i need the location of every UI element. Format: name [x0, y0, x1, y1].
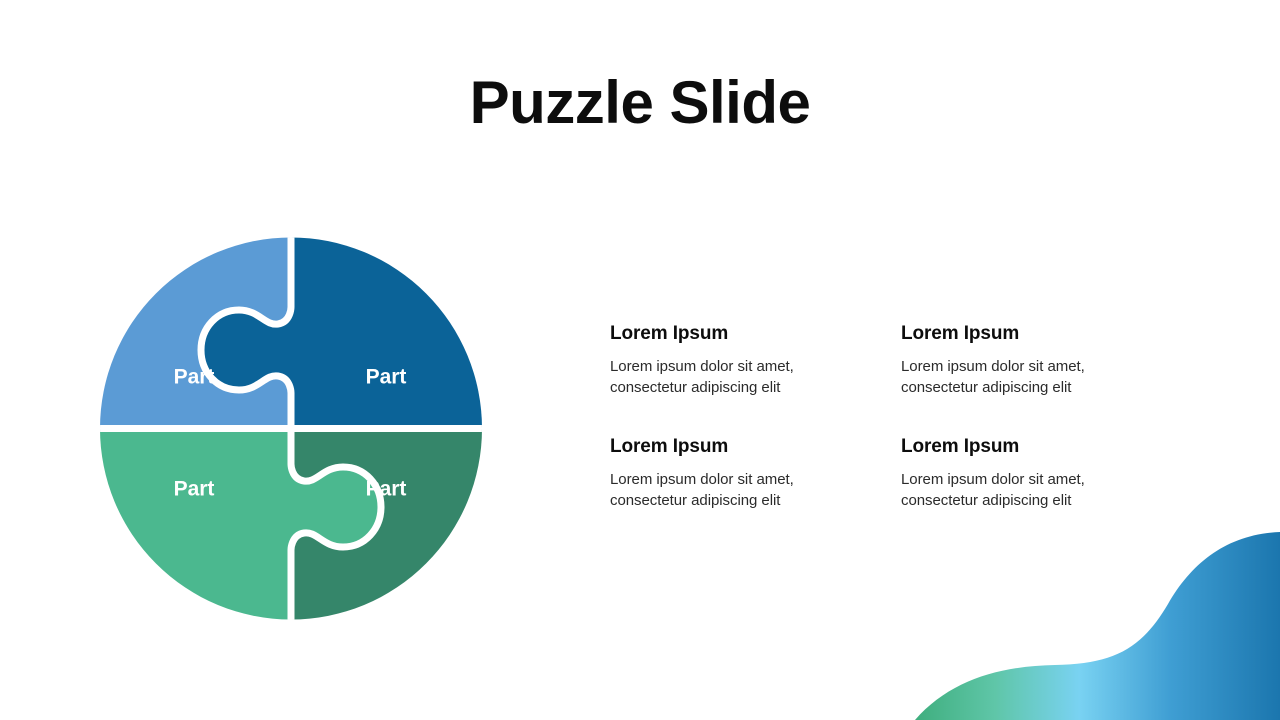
content-item-2-body: Lorem ipsum dolor sit amet, consectetur … [901, 356, 1116, 399]
corner-wave-decoration [880, 500, 1280, 720]
content-row-1: Lorem Ipsum Lorem ipsum dolor sit amet, … [610, 322, 1210, 398]
content-row-2: Lorem Ipsum Lorem ipsum dolor sit amet, … [610, 435, 1210, 511]
content-item-4-heading: Lorem Ipsum [901, 435, 1172, 460]
content-item-1-heading: Lorem Ipsum [610, 322, 881, 347]
puzzle-label-bottom-right: Part [366, 478, 407, 501]
puzzle-label-top-right: Part [366, 366, 407, 389]
content-item-2-heading: Lorem Ipsum [901, 322, 1172, 347]
content-item-4-body: Lorem ipsum dolor sit amet, consectetur … [901, 469, 1116, 512]
content-item-4: Lorem Ipsum Lorem ipsum dolor sit amet, … [901, 435, 1192, 511]
content-item-3: Lorem Ipsum Lorem ipsum dolor sit amet, … [610, 435, 901, 511]
content-item-1-body: Lorem ipsum dolor sit amet, consectetur … [610, 356, 825, 399]
puzzle-diagram: Part Part Part Part [96, 232, 496, 632]
content-grid: Lorem Ipsum Lorem ipsum dolor sit amet, … [610, 322, 1210, 512]
puzzle-label-top-left: Part [174, 366, 215, 389]
corner-wave-svg [880, 500, 1280, 720]
slide-canvas: Puzzle Slide [0, 0, 1280, 720]
page-title: Puzzle Slide [0, 70, 1280, 136]
content-item-1: Lorem Ipsum Lorem ipsum dolor sit amet, … [610, 322, 901, 398]
content-item-3-heading: Lorem Ipsum [610, 435, 881, 460]
puzzle-label-bottom-left: Part [174, 478, 215, 501]
content-item-2: Lorem Ipsum Lorem ipsum dolor sit amet, … [901, 322, 1192, 398]
wave-shape [915, 532, 1280, 720]
puzzle-svg: Part Part Part Part [96, 232, 496, 632]
content-item-3-body: Lorem ipsum dolor sit amet, consectetur … [610, 469, 825, 512]
